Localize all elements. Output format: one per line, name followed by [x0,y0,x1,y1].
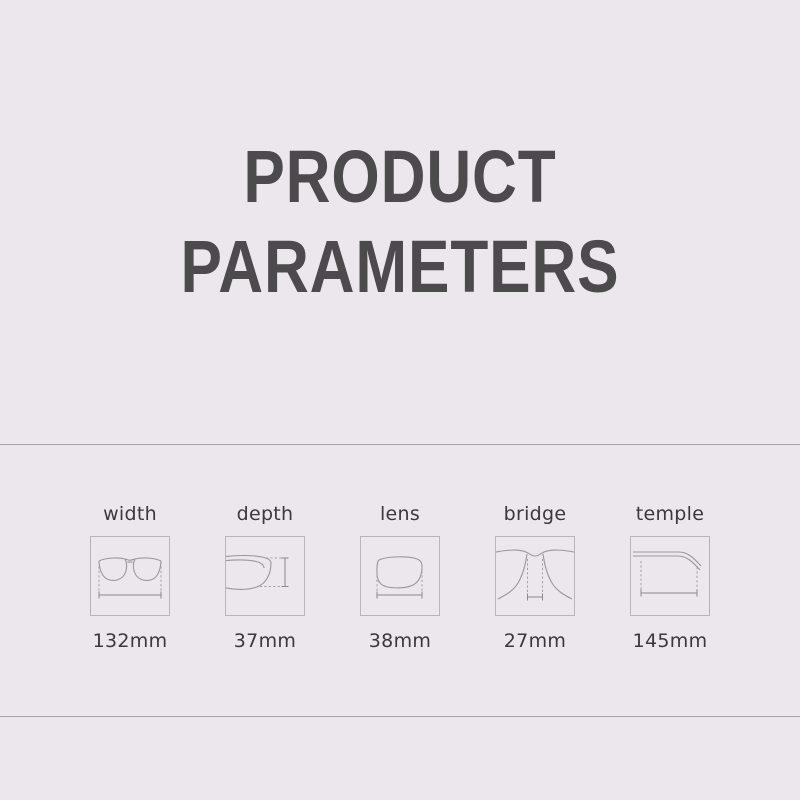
divider-bottom [0,716,800,717]
parameter-label-depth: depth [237,505,294,524]
nose-bridge-icon [495,536,575,616]
single-lens-width-icon [360,536,440,616]
lens-depth-icon [225,536,305,616]
parameter-item-temple: temple 145mm [603,505,738,651]
parameter-label-width: width [103,505,157,524]
parameter-value-bridge: 27mm [504,632,566,651]
parameter-item-lens: lens 38mm [333,505,468,651]
parameter-label-lens: lens [380,505,420,524]
parameter-value-lens: 38mm [369,632,431,651]
parameter-value-depth: 37mm [234,632,296,651]
parameter-label-temple: temple [636,505,704,524]
title-line-parameters: PARAMETERS [64,230,736,304]
divider-top [0,444,800,445]
title-line-product: PRODUCT [64,140,736,214]
parameters-row: width 132mm [0,505,800,651]
parameter-value-temple: 145mm [633,632,708,651]
page-title: PRODUCT PARAMETERS [0,140,800,304]
parameter-value-width: 132mm [93,632,168,651]
product-parameters-page: PRODUCT PARAMETERS width [0,0,800,800]
parameter-item-width: width 132mm [63,505,198,651]
eyeglasses-front-width-icon [90,536,170,616]
parameter-item-depth: depth 37mm [198,505,333,651]
parameter-label-bridge: bridge [504,505,567,524]
parameter-item-bridge: bridge 27mm [468,505,603,651]
temple-arm-icon [630,536,710,616]
